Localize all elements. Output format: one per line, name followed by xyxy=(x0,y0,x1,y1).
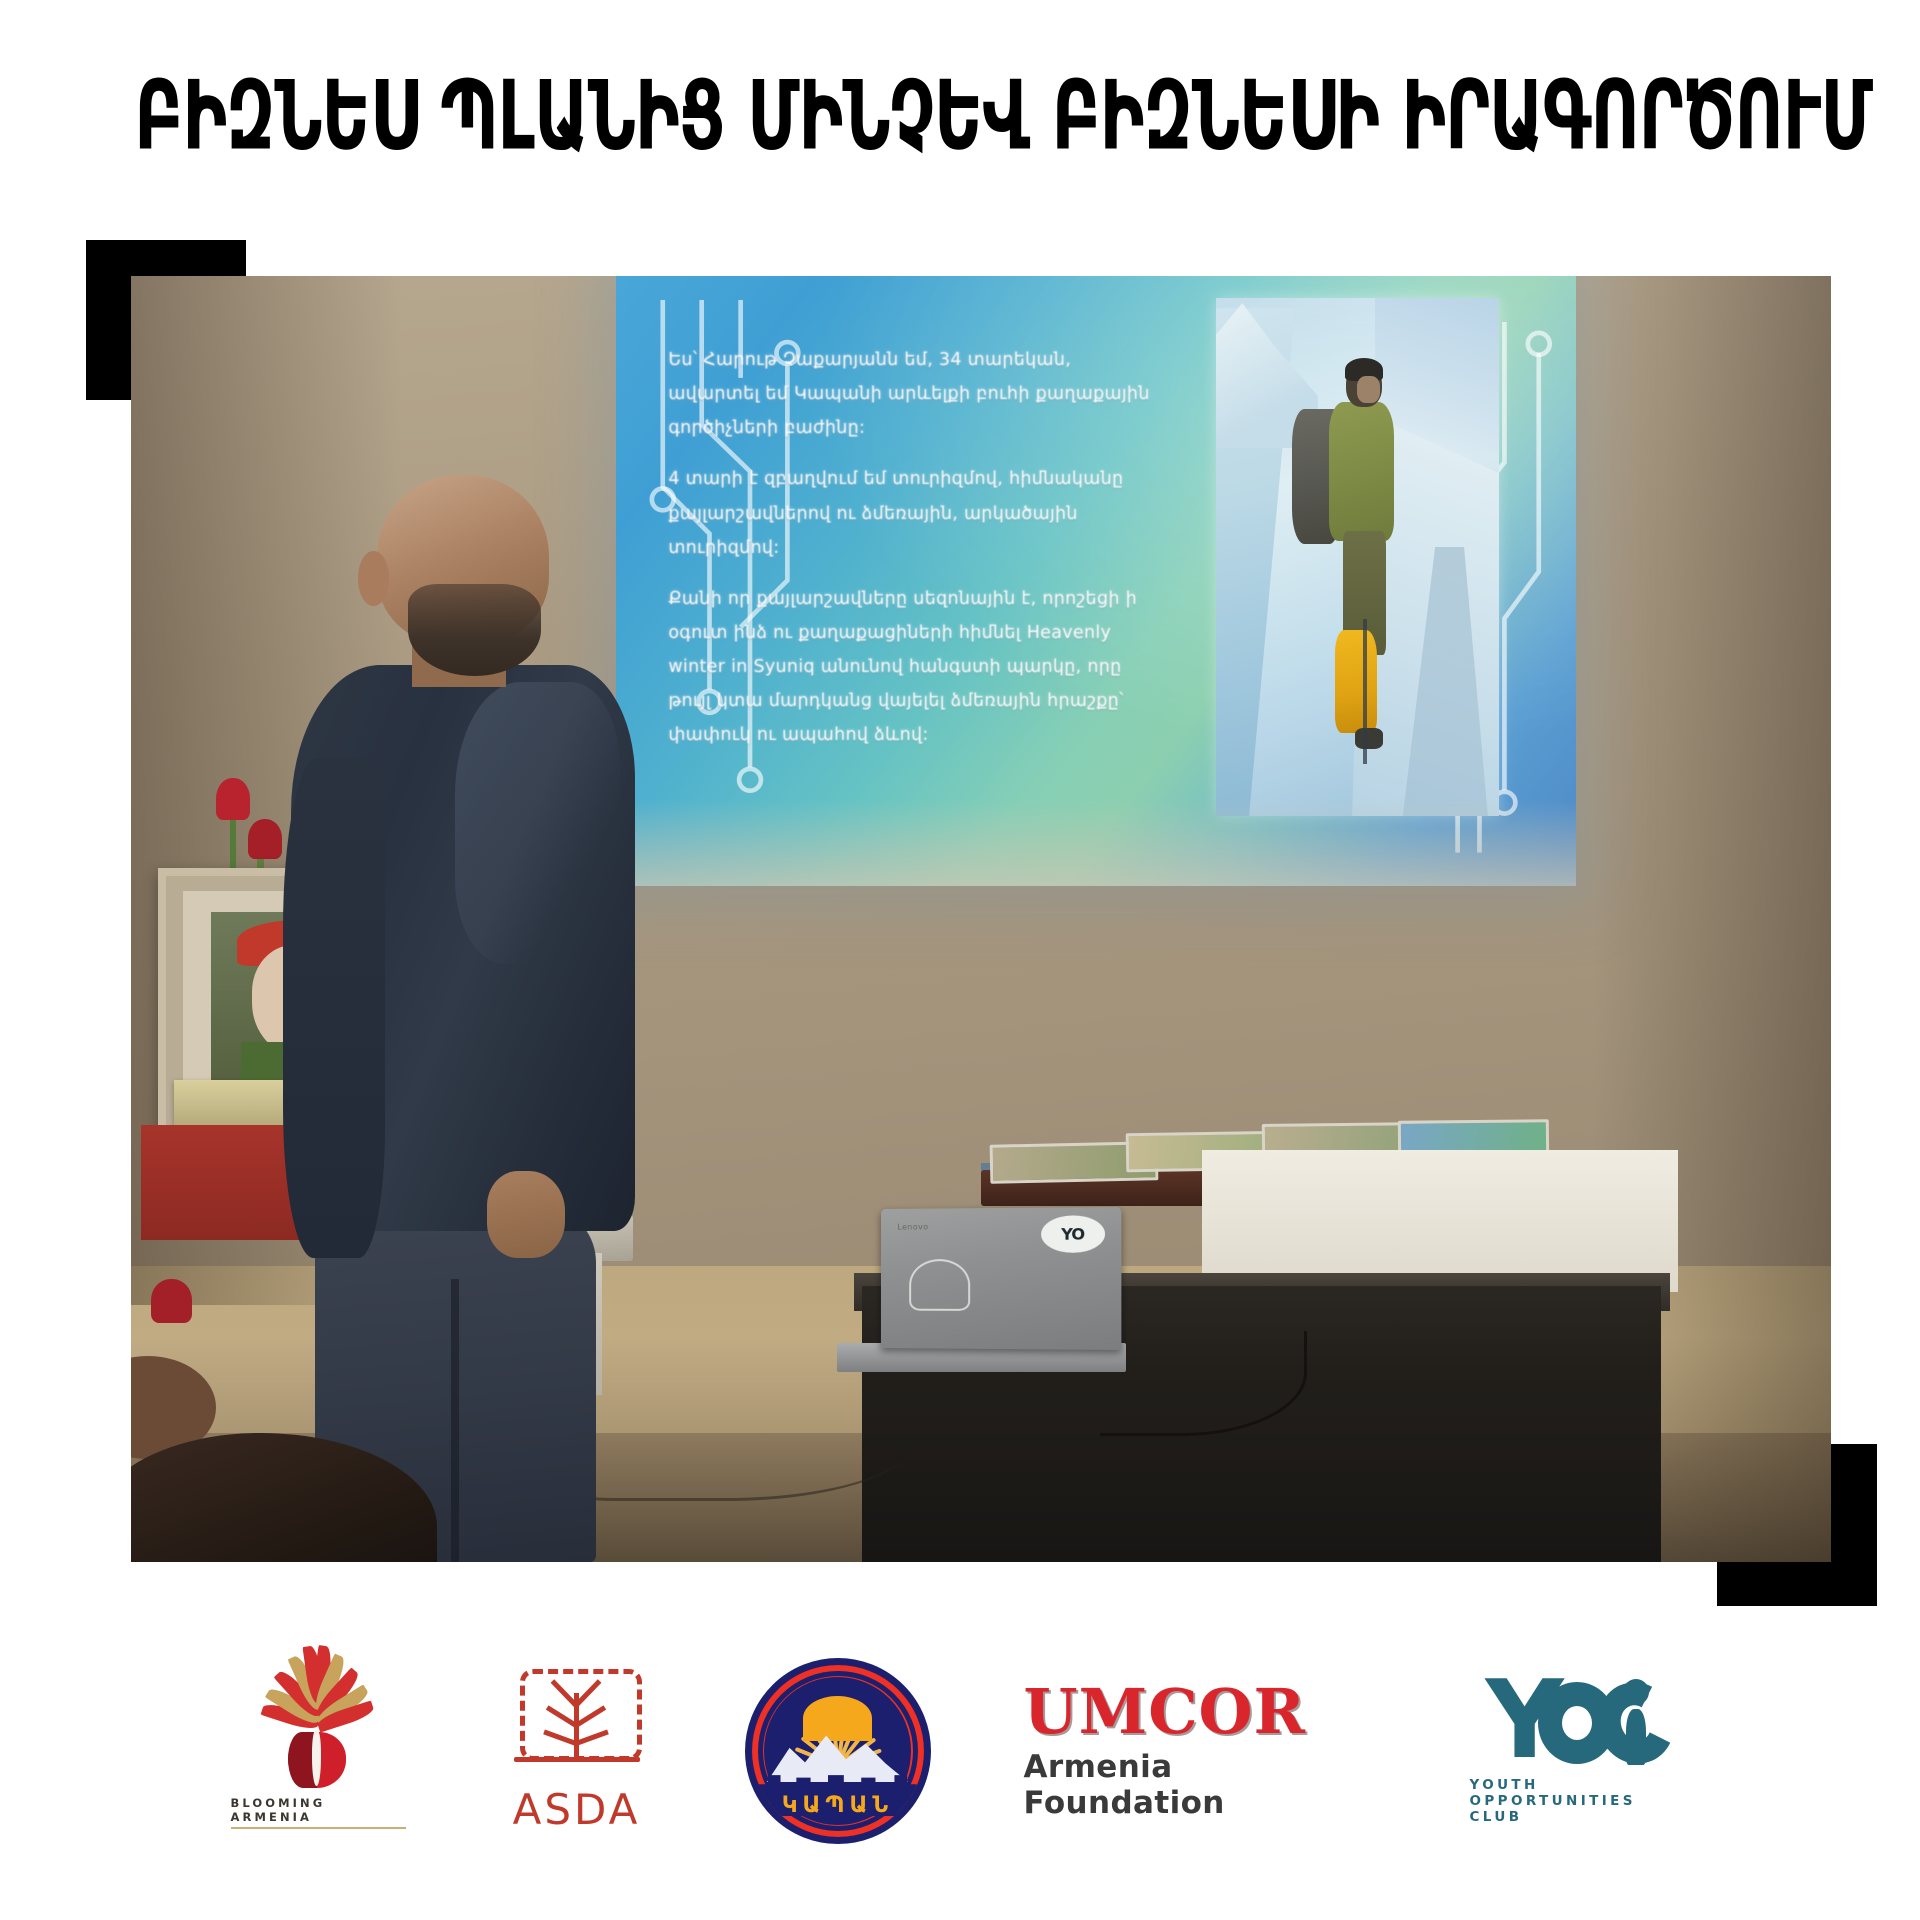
blooming-armenia-icon xyxy=(238,1674,398,1792)
laptop-brand-label: Lenovo xyxy=(897,1223,928,1232)
projected-slide: Ես՝ Հարութ Չաքարյանն եմ, 34 տարեկան, ավա… xyxy=(616,276,1577,886)
hiker-face xyxy=(1357,376,1380,403)
page-title: ԲԻԶՆԵՍ ՊԼԱՆԻՑ ՄԻՆՉԵՎ ԲԻԶՆԵՍԻ ԻՐԱԳՈՐԾՈՒՄ xyxy=(134,58,1785,175)
yoc-person-body-icon xyxy=(1626,1709,1646,1765)
hiker-torso xyxy=(1329,402,1394,542)
asda-tree-icon xyxy=(514,1669,640,1781)
logo-asda: ASDA xyxy=(502,1669,652,1834)
sun-icon xyxy=(803,1696,872,1741)
presenter-arm xyxy=(283,758,385,1258)
blooming-armenia-label: BLOOMING ARMENIA xyxy=(231,1796,406,1829)
kapan-emblem-icon: ԿԱՊԱՆ xyxy=(745,1658,931,1844)
presenter-shoulder-highlight xyxy=(455,682,619,965)
tulip-bloom-1 xyxy=(216,778,250,820)
hiker-trekking-pole xyxy=(1363,619,1367,764)
yoc-person-head-icon xyxy=(1623,1679,1649,1705)
presenter-hand xyxy=(487,1171,565,1258)
kapan-label: ԿԱՊԱՆ xyxy=(752,1793,924,1818)
presenter-figure xyxy=(276,475,667,1562)
presenter-beard xyxy=(408,584,541,676)
ufo-sticker-icon xyxy=(909,1259,970,1311)
hiker-gaiters xyxy=(1335,630,1378,734)
yoc-subtitle: YOUTH OPPORTUNITIES CLUB xyxy=(1470,1777,1690,1825)
wall-panel-right xyxy=(1202,1150,1678,1291)
event-photo: Ես՝ Հարութ Չաքարյանն եմ, 34 տարեկան, ավա… xyxy=(131,276,1831,1562)
slide-paragraph-2: 4 տարի է զբաղվում եմ տուրիզմով, հիմնական… xyxy=(668,462,1167,564)
asda-label: ASDA xyxy=(513,1785,641,1834)
presenter-ear xyxy=(358,551,389,605)
logo-kapan: ԿԱՊԱՆ xyxy=(748,1658,928,1844)
corner-bracket-bottom-right-horizontal xyxy=(1717,1560,1877,1606)
presenter-leg-split xyxy=(451,1279,459,1562)
slide-body-text: Ես՝ Հարութ Չաքարյանն եմ, 34 տարեկան, ավա… xyxy=(668,343,1167,769)
laptop-lid: Lenovo YO xyxy=(881,1207,1122,1350)
umcor-wordmark: UMCOR xyxy=(1024,1681,1307,1743)
logo-yoc: Y YOUTH OPPORTUNITIES CLUB xyxy=(1470,1677,1690,1825)
umcor-subtitle: Armenia Foundation xyxy=(1024,1749,1374,1821)
logo-blooming-armenia: BLOOMING ARMENIA xyxy=(231,1674,406,1829)
yoc-icon: Y xyxy=(1486,1677,1674,1769)
slide-paragraph-3: Քանի որ քայլարշավները սեզոնային է, որոշե… xyxy=(668,582,1167,753)
slide-paragraph-1: Ես՝ Հարութ Չաքարյանն եմ, 34 տարեկան, ավա… xyxy=(668,343,1167,445)
sponsor-logo-strip: BLOOMING ARMENIA ASDA xyxy=(0,1636,1920,1866)
yoc-sticker-icon: YO xyxy=(1041,1216,1105,1253)
slide-mountaineer-photo xyxy=(1216,298,1499,816)
tulip-bloom-3 xyxy=(151,1279,192,1323)
logo-umcor: UMCOR Armenia Foundation xyxy=(1024,1681,1374,1821)
hiker-boot xyxy=(1355,728,1383,749)
